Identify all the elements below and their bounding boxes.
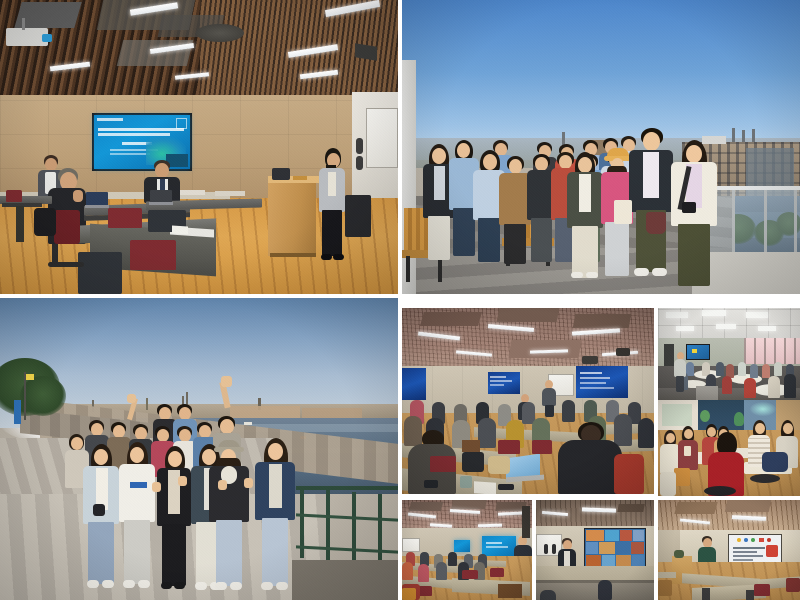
photo-bright-classroom[interactable] (658, 308, 800, 406)
photo-speaker-photo-grid[interactable] (536, 500, 654, 600)
projected-slide (728, 534, 782, 564)
photo-lecture-room-panel[interactable] (0, 0, 398, 294)
photo-seminar-wide[interactable] (402, 500, 532, 600)
photo-rooftop-group[interactable] (402, 0, 800, 294)
photo-waterfront-group[interactable] (0, 298, 398, 600)
photo-collage (0, 0, 800, 600)
standing-presenter (318, 148, 348, 262)
lectern (268, 178, 316, 256)
foreground-student (558, 422, 622, 494)
projection-screen (584, 528, 646, 568)
wall-screen (686, 344, 710, 360)
photo-lecture-hall-audience[interactable] (402, 308, 654, 494)
photo-classroom-presentation[interactable] (658, 500, 800, 600)
screen-left (402, 368, 426, 400)
lecturer (542, 380, 556, 416)
photo-cafe-discussion[interactable] (658, 400, 800, 496)
screen-left (454, 540, 470, 552)
